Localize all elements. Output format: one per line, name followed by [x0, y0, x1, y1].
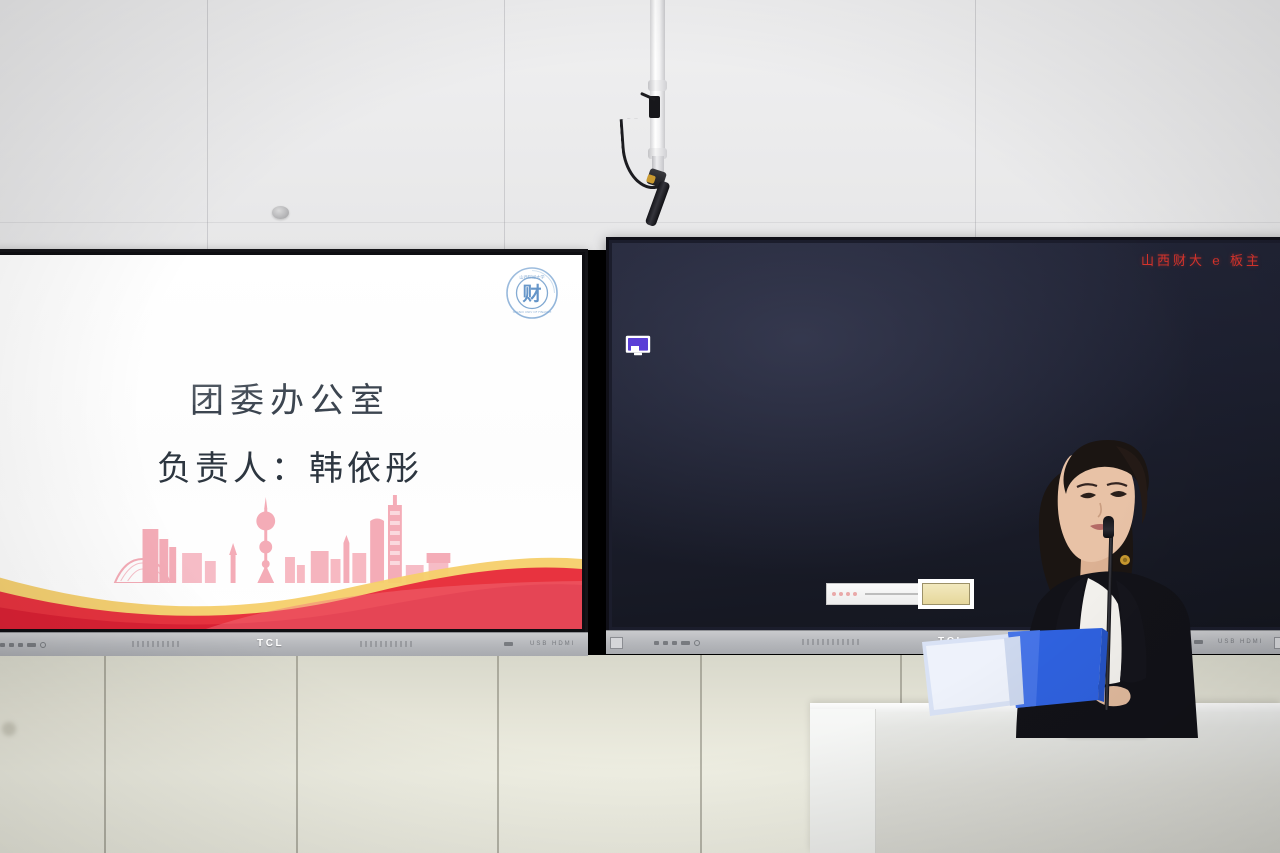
bezel-control-keys[interactable] [504, 642, 513, 646]
wall-smudge [2, 722, 16, 736]
folder-paper-inner [926, 639, 1016, 710]
wall-panel-seam [104, 655, 106, 853]
logo-character: 财 [522, 282, 541, 305]
lapel-pin-center [1123, 558, 1127, 562]
bezel-vent [802, 639, 862, 645]
wall-panel-seam [296, 655, 298, 853]
wall-panel-seam [497, 655, 499, 853]
svg-text:SHANXI UNIV OF FINANCE: SHANXI UNIV OF FINANCE [513, 310, 552, 314]
wall-fixture [272, 206, 289, 219]
bezel-port[interactable] [1274, 637, 1280, 649]
left-display-panel[interactable]: 山西财经大学 SHANXI UNIV OF FINANCE 财 团委办公室 负责… [0, 249, 588, 635]
slide-title-line-2: 负责人：韩依彤 [0, 441, 582, 490]
svg-text:山西财经大学: 山西财经大学 [519, 274, 544, 281]
university-logo-icon: 山西财经大学 SHANXI UNIV OF FINANCE 财 [504, 265, 560, 321]
bezel-port-label: USB HDMI [1218, 639, 1263, 645]
bezel-port-label: USB HDMI [530, 641, 575, 647]
blue-folder [912, 626, 1112, 721]
bezel-vent [360, 641, 412, 647]
wall-seam [207, 0, 208, 250]
wall-seam-horizontal [0, 222, 1280, 223]
slide-title-line-1: 团委办公室 [0, 373, 582, 422]
monitor-icon[interactable] [625, 335, 651, 357]
bezel-vent [132, 641, 182, 647]
bezel-port[interactable] [610, 637, 623, 649]
taskbar-dots [832, 592, 857, 596]
bezel-control-keys[interactable] [0, 642, 46, 648]
wall-panel-seam [700, 655, 702, 853]
left-display-bezel: TCL USB HDMI [0, 632, 588, 656]
presentation-room-photo: 山西财经大学 SHANXI UNIV OF FINANCE 财 团委办公室 负责… [0, 0, 1280, 853]
wall-seam [504, 0, 505, 250]
bezel-control-keys[interactable] [654, 640, 700, 646]
mic-joint [648, 80, 667, 91]
board-watermark: 山西财大 e 板主 [1141, 250, 1262, 269]
podium-mic-head [1103, 516, 1114, 538]
red-wave-graphic [0, 519, 582, 629]
tcl-brand-logo: TCL [257, 638, 284, 649]
podium-side-face [810, 709, 876, 853]
wall-seam [975, 0, 976, 250]
presentation-slide[interactable]: 山西财经大学 SHANXI UNIV OF FINANCE 财 团委办公室 负责… [0, 255, 582, 629]
